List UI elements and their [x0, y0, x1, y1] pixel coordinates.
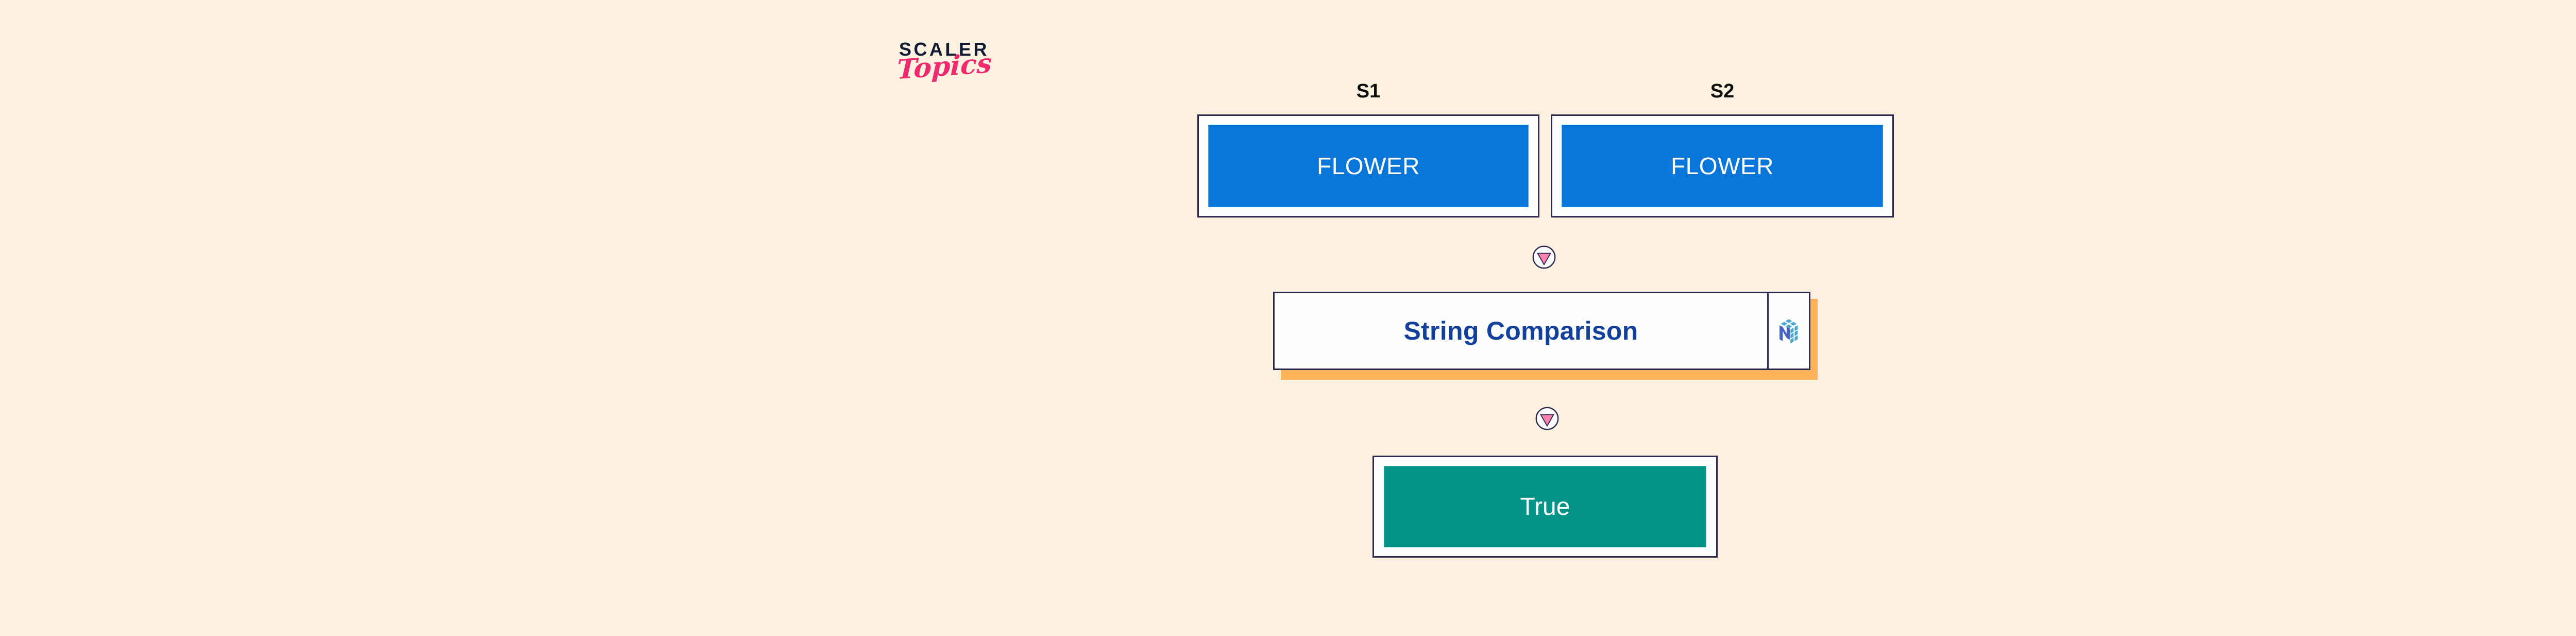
output-box-true: True	[1372, 456, 1718, 558]
input-box-s1: FLOWER	[1197, 114, 1539, 217]
input-label-s1: S1	[1197, 81, 1539, 101]
operation-icon-cell	[1767, 293, 1809, 369]
operation-box: String Comparison	[1273, 292, 1810, 370]
operation-label: String Comparison	[1275, 293, 1767, 369]
numpy-logo-icon	[1775, 317, 1802, 344]
input-value-s2: FLOWER	[1562, 125, 1883, 207]
output-value: True	[1384, 466, 1706, 547]
input-label-s2: S2	[1551, 81, 1894, 101]
arrow-down-icon-1	[1532, 245, 1556, 269]
input-value-s1: FLOWER	[1208, 125, 1529, 207]
arrow-down-icon-2	[1535, 407, 1559, 430]
input-box-s2: FLOWER	[1551, 114, 1894, 217]
string-comparison-diagram: S1 S2 FLOWER FLOWER String Comparison	[0, 0, 2576, 636]
